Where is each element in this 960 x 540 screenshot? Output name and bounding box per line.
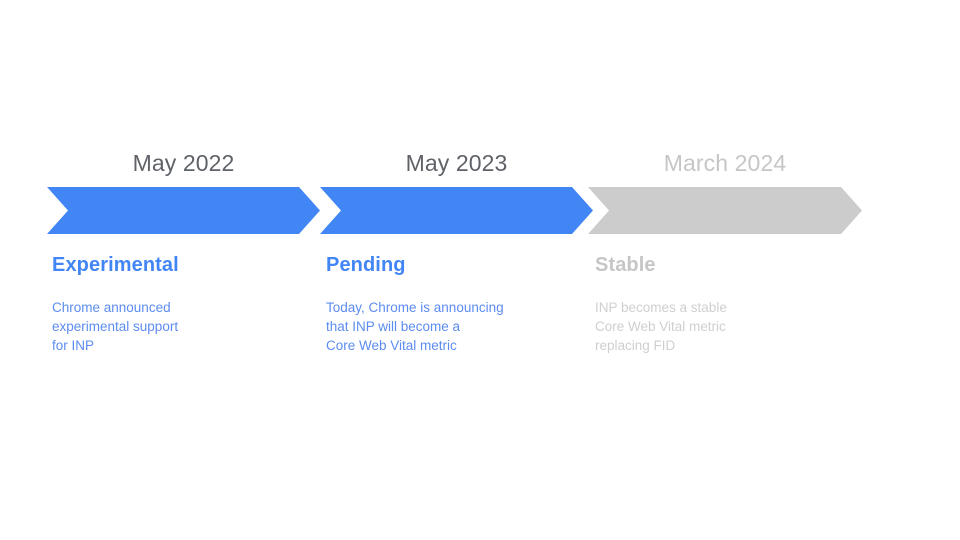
stage-description: Today, Chrome is announcing that INP wil… — [326, 298, 593, 355]
description-line: for INP — [52, 336, 320, 355]
stage-date-label: May 2023 — [320, 146, 593, 180]
stage-date-label: March 2024 — [588, 146, 862, 180]
chevron-shape-icon — [588, 187, 862, 234]
chevron-shape-icon — [320, 187, 593, 234]
description-line: Core Web Vital metric — [326, 336, 593, 355]
description-line: experimental support — [52, 317, 320, 336]
stage-description: INP becomes a stable Core Web Vital metr… — [595, 298, 862, 355]
description-line: Core Web Vital metric — [595, 317, 862, 336]
chevron-shape-icon — [47, 187, 320, 234]
description-line: INP becomes a stable — [595, 298, 862, 317]
chevron-arrow-experimental — [47, 187, 320, 234]
chevron-arrow-pending — [320, 187, 593, 234]
timeline-stage-stable: March 2024 Stable INP becomes a stable C… — [588, 146, 862, 355]
stage-description: Chrome announced experimental support fo… — [52, 298, 320, 355]
description-line: that INP will become a — [326, 317, 593, 336]
stage-heading: Pending — [326, 254, 593, 277]
inp-timeline-diagram: May 2022 Experimental Chrome announced e… — [0, 0, 960, 540]
chevron-arrow-stable — [588, 187, 862, 234]
stage-heading: Stable — [595, 254, 862, 277]
timeline-stage-experimental: May 2022 Experimental Chrome announced e… — [47, 146, 320, 355]
timeline-stage-pending: May 2023 Pending Today, Chrome is announ… — [320, 146, 593, 355]
description-line: Chrome announced — [52, 298, 320, 317]
stage-heading: Experimental — [52, 254, 320, 277]
description-line: replacing FID — [595, 336, 862, 355]
stage-date-label: May 2022 — [47, 146, 320, 180]
description-line: Today, Chrome is announcing — [326, 298, 593, 317]
